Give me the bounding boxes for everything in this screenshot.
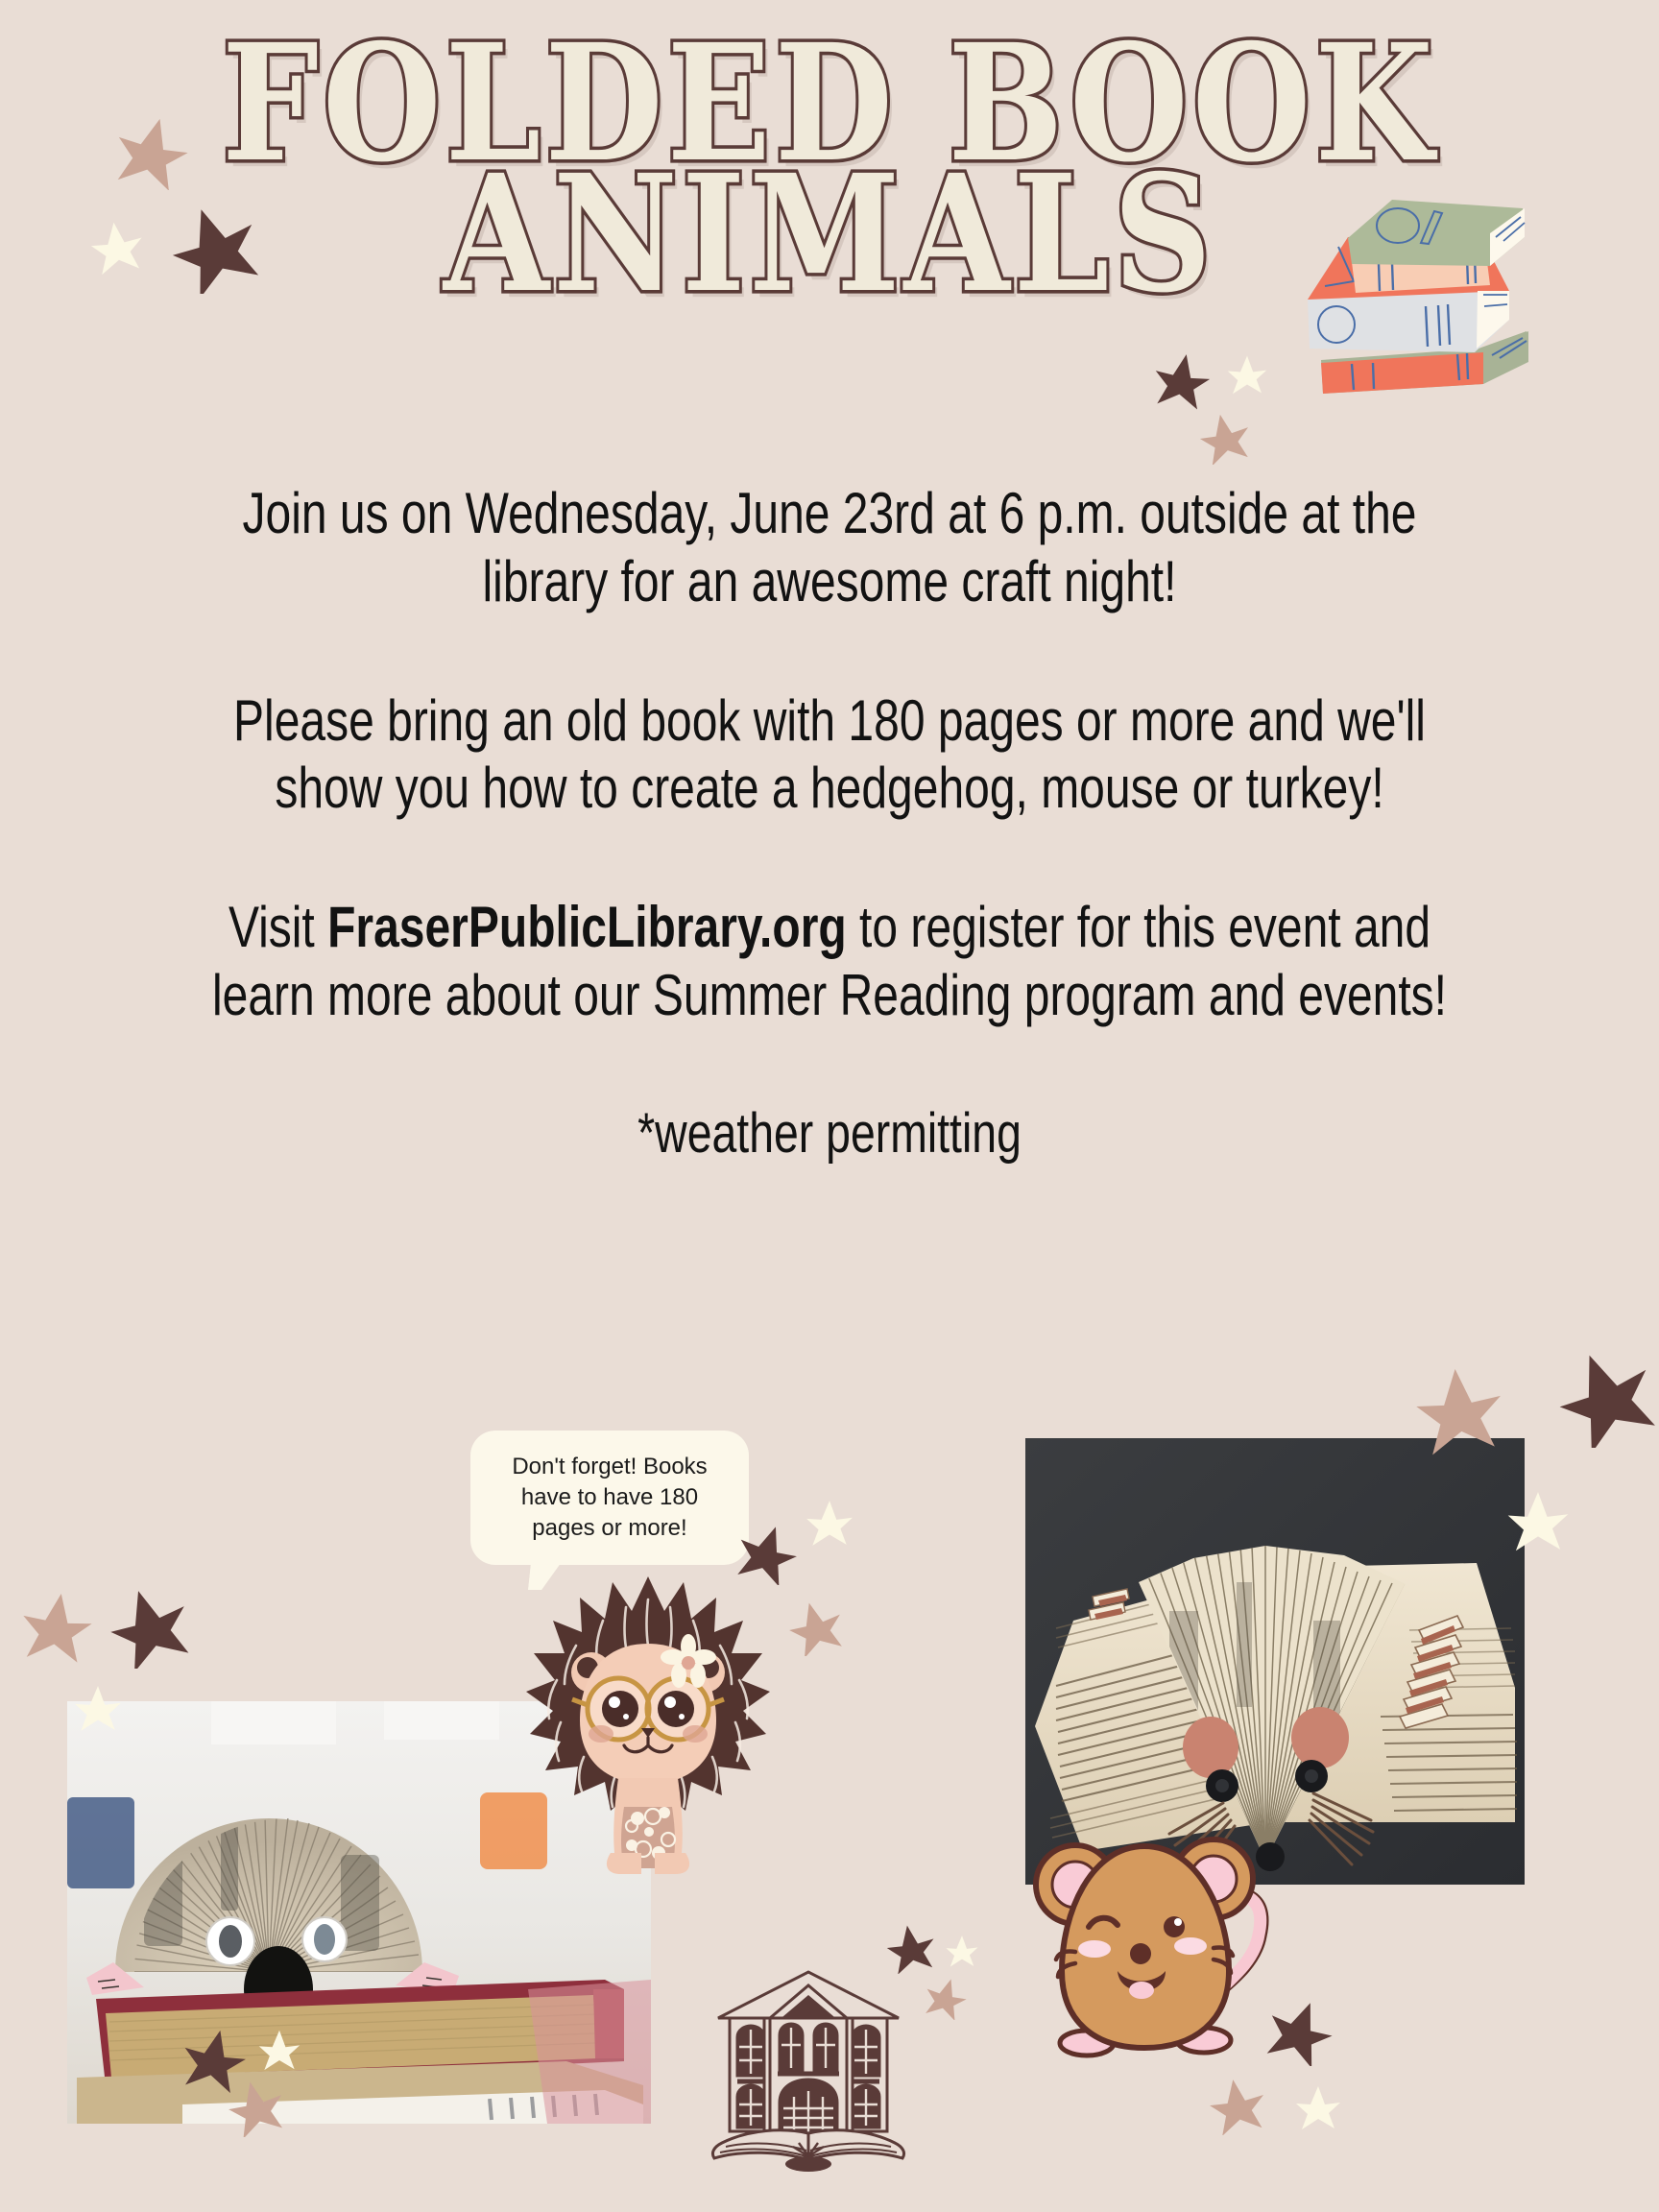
star-decor-rose-6 [924, 1976, 968, 2020]
book-stack-illustration [1286, 187, 1565, 427]
title-line-1: FOLDED BOOK [0, 27, 1659, 181]
star-decor-cream-1 [89, 219, 145, 275]
star-decor-rose-2 [1198, 411, 1252, 465]
paragraph-weather-note: *weather permitting [200, 1101, 1459, 1166]
star-decor-rose-7 [1413, 1363, 1505, 1455]
library-website-link[interactable]: FraserPublicLibrary.org [327, 895, 847, 959]
paragraph-event-details: Join us on Wednesday, June 23rd at 6 p.m… [200, 480, 1459, 616]
star-decor-cream-3 [805, 1498, 854, 1548]
star-decor-rose-8 [1208, 2076, 1267, 2135]
poster-body-text: Join us on Wednesday, June 23rd at 6 p.m… [0, 480, 1659, 1166]
star-decor-brown-2 [1152, 350, 1212, 410]
hedgehog-character-illustration [518, 1565, 778, 1882]
star-decor-brown-1 [169, 202, 261, 294]
speech-bubble-line-2: have to have 180 [521, 1484, 698, 1510]
star-decor-rose-4 [19, 1589, 94, 1664]
speech-bubble-line-1: Don't forget! Books [512, 1454, 707, 1479]
star-decor-brown-6 [885, 1922, 937, 1974]
star-decor-cream-5 [257, 2028, 301, 2072]
speech-bubble-text: Don't forget! Books have to have 180 pag… [498, 1452, 720, 1543]
star-decor-rose-5 [227, 2078, 286, 2137]
star-decor-brown-7 [1555, 1346, 1657, 1448]
poster-canvas: FOLDED BOOK ANIMALS Join us on Wednesday… [0, 0, 1659, 2212]
mouse-craft-photo [1025, 1438, 1525, 1885]
mouse-character-illustration [1025, 1829, 1285, 2079]
star-decor-cream-8 [1294, 2083, 1342, 2131]
speech-bubble-line-3: pages or more! [532, 1515, 686, 1541]
star-decor-cream-6 [945, 1934, 979, 1968]
speech-bubble: Don't forget! Books have to have 180 pag… [470, 1431, 749, 1565]
library-building-logo [707, 1959, 910, 2189]
paragraph-register: Visit FraserPublicLibrary.org to registe… [200, 894, 1459, 1030]
paragraph-bring-book: Please bring an old book with 180 pages … [200, 687, 1459, 824]
star-decor-brown-4 [108, 1584, 192, 1669]
star-decor-cream-2 [1226, 353, 1268, 396]
star-decor-cream-4 [73, 1683, 123, 1733]
visit-prefix: Visit [228, 895, 327, 959]
star-decor-brown-8 [1265, 1997, 1334, 2066]
star-decor-brown-3 [735, 1522, 799, 1585]
star-decor-rose-3 [787, 1599, 845, 1656]
star-decor-rose-1 [113, 113, 190, 190]
star-decor-cream-7 [1505, 1488, 1571, 1553]
